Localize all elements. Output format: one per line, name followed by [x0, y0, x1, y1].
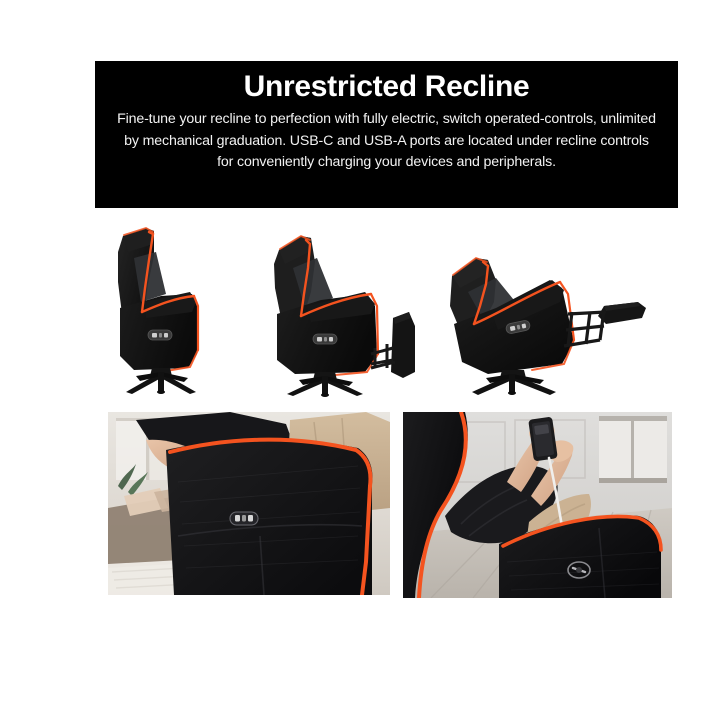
photo-usb-charging: Person reclined using a phone with a cha… — [403, 412, 672, 598]
photo-recline-controls: Hand pressing the switch-operated reclin… — [108, 412, 390, 595]
recline-control-panel[interactable] — [148, 330, 172, 340]
chair-footrest — [564, 302, 646, 346]
page-title: Unrestricted Recline — [109, 69, 664, 105]
window — [599, 416, 667, 483]
feature-banner: Unrestricted Recline Fine-tune your recl… — [95, 61, 678, 208]
product-feature-page: Unrestricted Recline Fine-tune your recl… — [0, 0, 719, 719]
feature-description: Fine-tune your recline to perfection wit… — [109, 109, 664, 174]
chair-full-recline-figure: Recliner in full recline with footrest f… — [440, 222, 665, 400]
recline-control-panel[interactable] — [230, 512, 258, 525]
chair-swivel-base — [287, 372, 363, 397]
recline-position-gallery: Recliner in upright position — [0, 222, 719, 400]
chair-upright-figure: Recliner in upright position — [104, 222, 234, 400]
chair-partial-recline-figure: Recliner in partial recline with footres… — [263, 222, 438, 400]
chair-swivel-base — [126, 368, 196, 394]
chair-swivel-base — [472, 370, 556, 395]
recline-control-panel[interactable] — [313, 334, 337, 344]
chair-foreground-arm — [166, 439, 372, 595]
